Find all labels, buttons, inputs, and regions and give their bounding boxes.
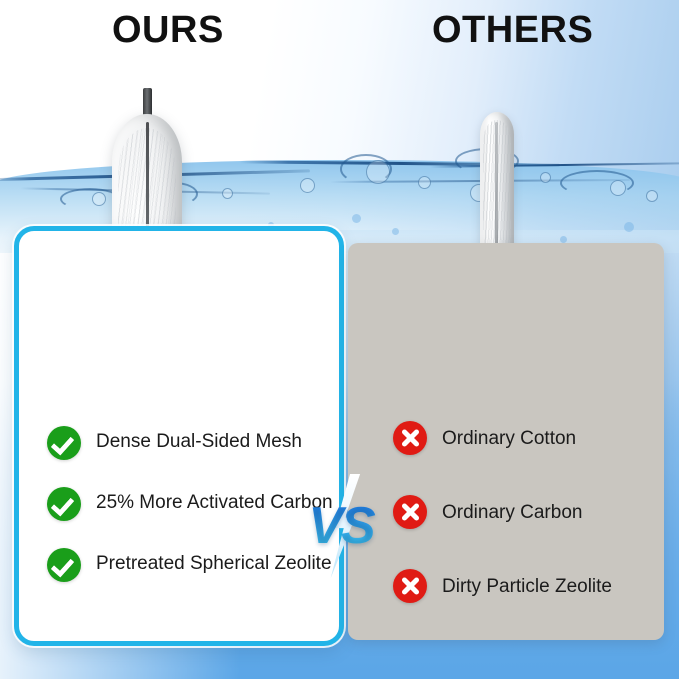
ours-comparison-card: Dense Dual-Sided Mesh 25% More Activated… [14,226,344,646]
water-droplet [352,214,361,223]
list-item: Ordinary Carbon [393,495,658,529]
water-bubble [610,180,626,196]
others-feature-list: Ordinary Cotton Ordinary Carbon Dirty Pa… [393,421,658,643]
water-bubble [418,176,431,189]
list-item: Pretreated Spherical Zeolite [47,548,337,582]
vs-badge: VS [296,480,386,572]
water-droplet [624,222,634,232]
check-circle-icon [47,548,81,582]
cross-circle-icon [393,569,427,603]
list-item-label: Ordinary Cotton [442,426,576,451]
cross-circle-icon [393,421,427,455]
check-circle-icon [47,487,81,521]
heading-others: OTHERS [432,9,593,52]
water-bubble [540,172,551,183]
water-bubble [366,160,390,184]
list-item: 25% More Activated Carbon [47,487,337,521]
vs-label: VS [296,496,386,556]
others-comparison-card: Ordinary Cotton Ordinary Carbon Dirty Pa… [348,243,664,640]
list-item: Dense Dual-Sided Mesh [47,426,337,460]
water-bubble [222,188,233,199]
water-bubble [92,192,106,206]
ours-feature-list: Dense Dual-Sided Mesh 25% More Activated… [47,426,337,609]
heading-ours: OURS [112,9,224,52]
water-droplet [392,228,399,235]
list-item: Dirty Particle Zeolite [393,569,658,603]
list-item-label: Ordinary Carbon [442,500,582,525]
list-item: Ordinary Cotton [393,421,658,455]
wave-crest [60,188,120,210]
cross-circle-icon [393,495,427,529]
comparison-infographic: OURS OTHERS Dense Dual-Sided Mesh 25% Mo… [0,0,679,679]
list-item-label: Dense Dual-Sided Mesh [96,426,302,454]
water-droplet [560,236,567,243]
list-item-label: Dirty Particle Zeolite [442,574,612,599]
water-bubble [646,190,658,202]
check-circle-icon [47,426,81,460]
water-bubble [300,178,315,193]
